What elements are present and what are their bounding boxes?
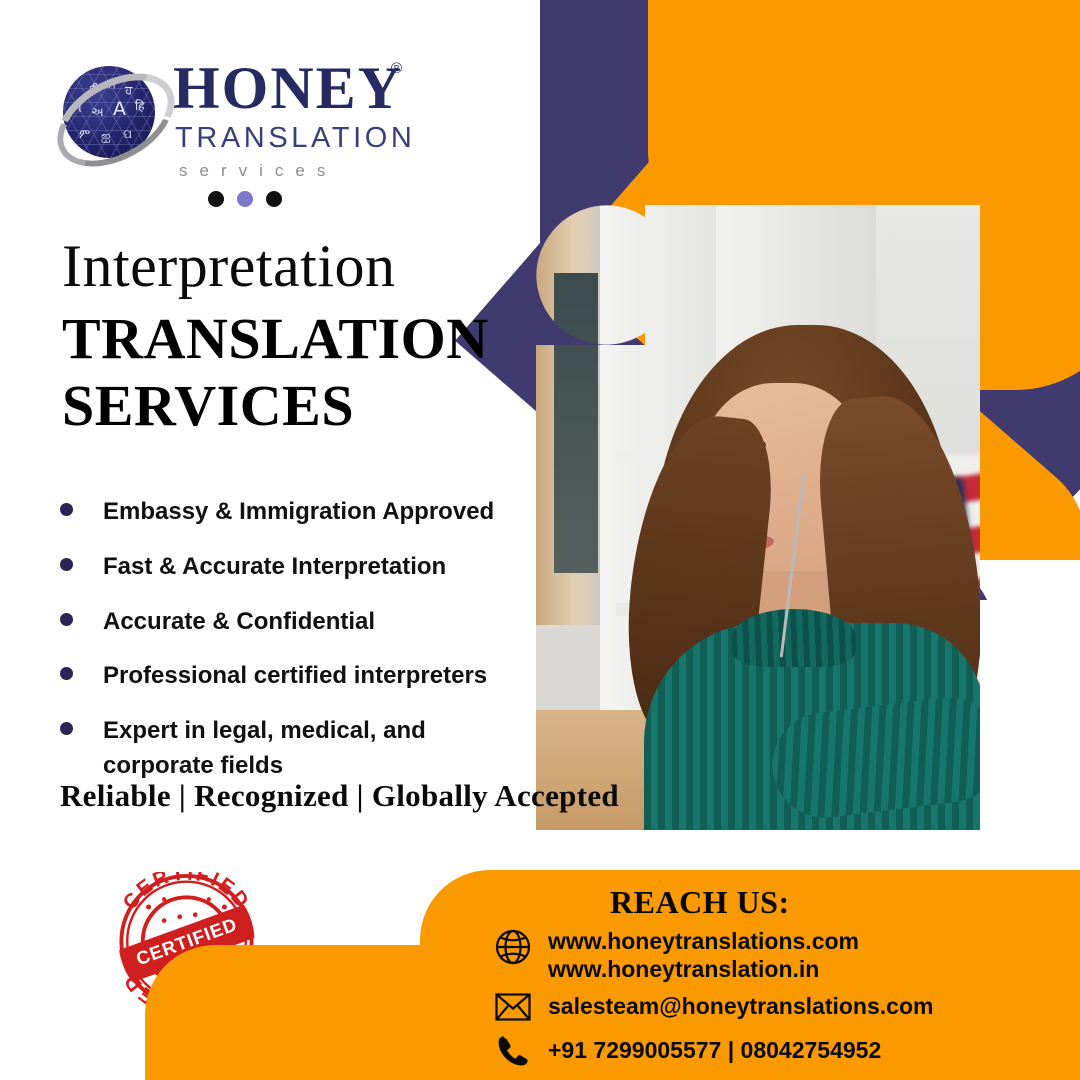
dot-3 — [266, 191, 282, 207]
feature-text: Embassy & Immigration Approved — [103, 495, 494, 530]
window-glass — [554, 273, 598, 573]
list-item: Expert in legal, medical, and corporate … — [55, 714, 525, 784]
list-item: Professional certified interpreters — [55, 659, 525, 694]
poster-canvas: ക ਸ ਹ ગ અ A हि ም ஐ ପ HONEY ® TRANSLATION… — [0, 0, 1080, 1080]
website-2[interactable]: www.honeytranslation.in — [548, 956, 859, 984]
feature-text: Accurate & Confidential — [103, 605, 375, 640]
phone-numbers[interactable]: +91 7299005577 | 08042754952 — [548, 1037, 881, 1065]
globe-languages-icon: ക ਸ ਹ ગ અ A हि ም ஐ ପ — [55, 58, 163, 166]
wordmark-translation: TRANSLATION — [175, 124, 415, 153]
wordmark-honey: HONEY — [173, 58, 403, 118]
list-item: Fast & Accurate Interpretation — [55, 550, 525, 585]
feature-list: Embassy & Immigration Approved Fast & Ac… — [55, 495, 525, 784]
contact-row-email[interactable]: salesteam@honeytranslations.com — [492, 993, 933, 1021]
wordmark-services: services — [179, 162, 337, 179]
headline-main-line2: SERVICES — [62, 373, 489, 440]
bullet-dot-icon — [60, 503, 73, 516]
globe-icon — [492, 928, 534, 966]
bullet-dot-icon — [60, 667, 73, 680]
feature-text: Expert in legal, medical, and corporate … — [103, 714, 458, 784]
phone-icon — [492, 1034, 534, 1068]
contact-row-phone[interactable]: +91 7299005577 | 08042754952 — [492, 1034, 881, 1068]
website-1[interactable]: www.honeytranslations.com — [548, 928, 859, 956]
bullet-dot-icon — [60, 558, 73, 571]
photo-scene — [536, 205, 980, 830]
headline-main: TRANSLATION SERVICES — [62, 306, 489, 439]
bullet-dot-icon — [60, 722, 73, 735]
brand-logo[interactable]: ക ਸ ਹ ગ અ A हि ም ஐ ପ HONEY ® TRANSLATION… — [55, 50, 415, 170]
headline-main-line1: TRANSLATION — [62, 306, 489, 373]
interpreter-photo — [536, 205, 980, 830]
contact-row-website[interactable]: www.honeytranslations.com www.honeytrans… — [492, 928, 859, 983]
feature-text: Fast & Accurate Interpretation — [103, 550, 446, 585]
dot-1 — [208, 191, 224, 207]
list-item: Embassy & Immigration Approved — [55, 495, 525, 530]
registered-mark: ® — [391, 60, 402, 77]
decor-dots — [208, 191, 282, 207]
envelope-icon — [492, 993, 534, 1021]
bullet-dot-icon — [60, 613, 73, 626]
email-address[interactable]: salesteam@honeytranslations.com — [548, 993, 933, 1021]
list-item: Accurate & Confidential — [55, 605, 525, 640]
tagline: Reliable | Recognized | Globally Accepte… — [60, 778, 619, 814]
contact-heading: REACH US: — [610, 884, 790, 921]
website-links[interactable]: www.honeytranslations.com www.honeytrans… — [548, 928, 859, 983]
feature-text: Professional certified interpreters — [103, 659, 487, 694]
dot-2 — [237, 191, 253, 207]
headline-script: Interpretation — [62, 236, 396, 296]
sweater-collar — [732, 609, 856, 667]
